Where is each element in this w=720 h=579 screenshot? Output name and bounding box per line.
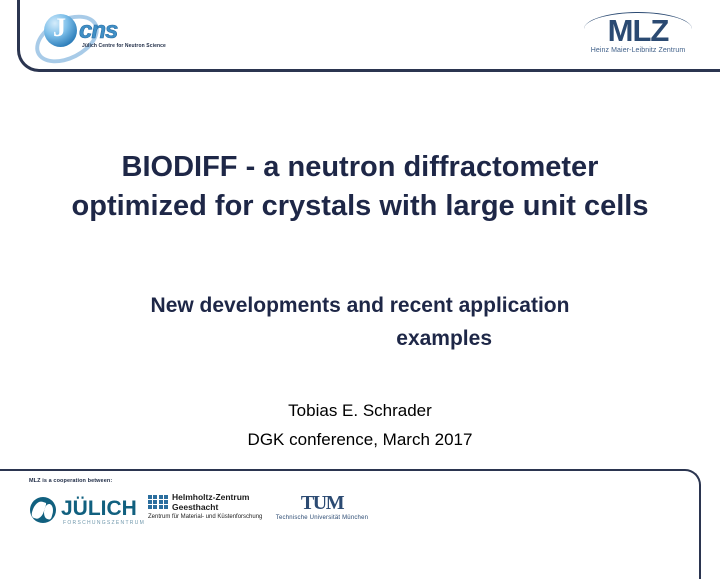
juelich-mark-icon	[30, 497, 56, 523]
jcns-logo: J cns Jülich Centre for Neutron Science	[33, 12, 168, 58]
mlz-wordmark: MLZ	[574, 15, 702, 46]
juelich-wordmark: JÜLICH	[61, 498, 137, 519]
slide-subtitle: New developments and recent application …	[60, 289, 660, 355]
tum-logo: TUM Technische Universität München	[272, 493, 372, 533]
subtitle-line-2: examples	[60, 322, 660, 355]
helmholtz-subtitle: Zentrum für Material- und Küstenforschun…	[148, 514, 262, 520]
presentation-slide: J cns Jülich Centre for Neutron Science …	[0, 0, 720, 540]
conference-name: DGK conference, March 2017	[60, 425, 660, 454]
helmholtz-geesthacht-logo: Helmholtz-Zentrum Geesthacht Zentrum für…	[148, 493, 260, 533]
mlz-subtitle: Heinz Maier-Leibnitz Zentrum	[574, 47, 702, 54]
author-name: Tobias E. Schrader	[60, 396, 660, 425]
jcns-wordmark: cns	[79, 17, 117, 45]
mlz-logo: MLZ Heinz Maier-Leibnitz Zentrum	[574, 10, 702, 58]
tum-wordmark: TUM	[272, 493, 372, 513]
helmholtz-name: Helmholtz-Zentrum Geesthacht	[172, 493, 249, 512]
helmholtz-dot-grid-icon	[148, 495, 168, 509]
tum-subtitle: Technische Universität München	[272, 515, 372, 521]
author-block: Tobias E. Schrader DGK conference, March…	[60, 396, 660, 454]
juelich-subtitle: FORSCHUNGSZENTRUM	[63, 520, 145, 526]
jcns-letter-j: J	[53, 15, 65, 41]
helmholtz-name-line-2: Geesthacht	[172, 503, 249, 513]
juelich-logo: JÜLICH FORSCHUNGSZENTRUM	[30, 495, 135, 533]
footer-caption: MLZ is a cooperation between:	[29, 478, 112, 484]
jcns-subtitle: Jülich Centre for Neutron Science	[82, 43, 166, 49]
footer-partner-logos: JÜLICH FORSCHUNGSZENTRUM Helmholtz-Zentr…	[0, 490, 720, 535]
slide-title: BIODIFF - a neutron diffractometer optim…	[24, 148, 696, 226]
title-line-1: BIODIFF - a neutron diffractometer	[24, 148, 696, 187]
subtitle-line-1: New developments and recent application	[60, 289, 660, 322]
header-logo-bar: J cns Jülich Centre for Neutron Science …	[0, 0, 720, 70]
title-line-2: optimized for crystals with large unit c…	[24, 187, 696, 226]
